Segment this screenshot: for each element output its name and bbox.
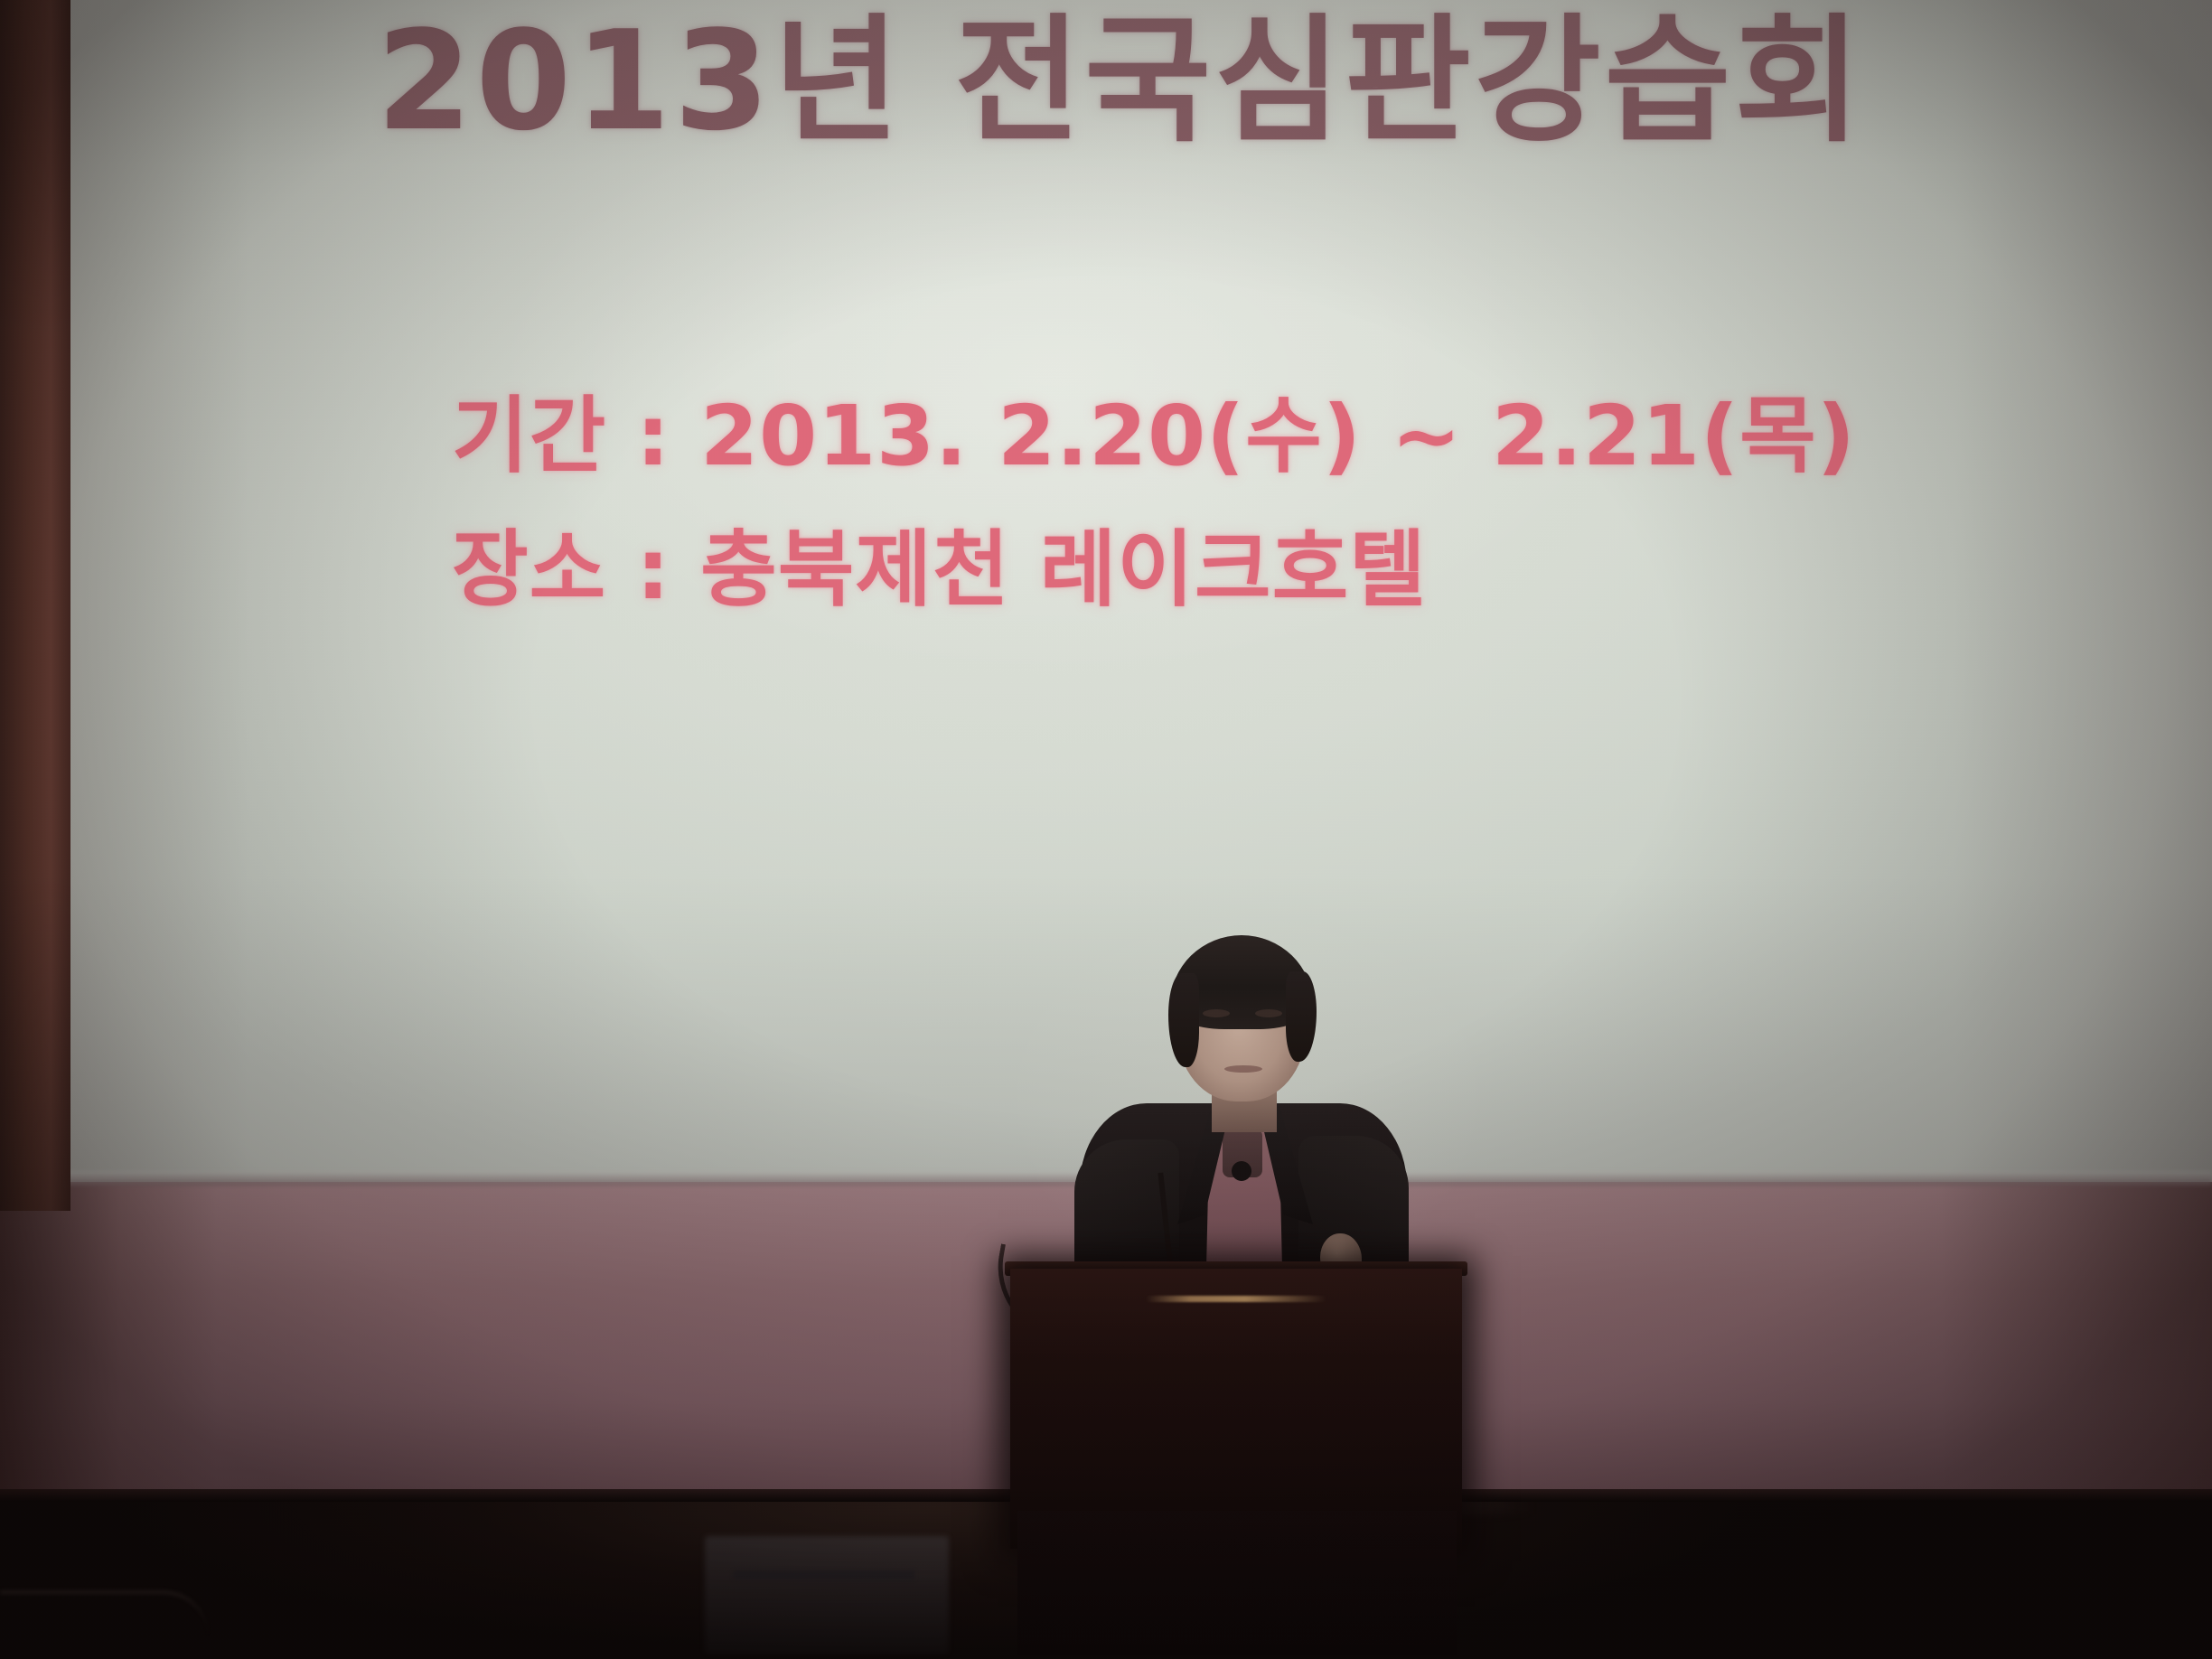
wall-right-shadow <box>1941 1175 2212 1500</box>
speaker <box>1071 935 1414 1297</box>
podium-trim-highlight <box>1146 1296 1326 1302</box>
floor-cable <box>0 1590 208 1636</box>
floor-object-detail <box>734 1570 914 1579</box>
podium-base <box>1017 1511 1457 1655</box>
speaker-hair-right-side <box>1286 971 1317 1062</box>
microphone-head <box>1232 1161 1251 1181</box>
podium <box>1010 1269 1462 1549</box>
wall-left-shadow <box>0 1175 217 1500</box>
left-wall-strip <box>0 0 70 1211</box>
speaker-right-eye <box>1255 1009 1282 1017</box>
speaker-mouth <box>1224 1065 1262 1073</box>
speaker-hair-left-side <box>1168 973 1199 1067</box>
slide-title: 2013년 전국심판강습회 <box>136 7 2105 155</box>
floor-object <box>705 1536 949 1654</box>
slide-location-line: 장소 : 충북제천 레이크호텔 <box>452 524 1898 615</box>
slide-date-line: 기간 : 2013. 2.20(수) ~ 2.21(목) <box>452 390 1898 482</box>
conference-photo: 2013년 전국심판강습회 기간 : 2013. 2.20(수) ~ 2.21(… <box>0 0 2212 1659</box>
speaker-left-eye <box>1203 1009 1230 1017</box>
